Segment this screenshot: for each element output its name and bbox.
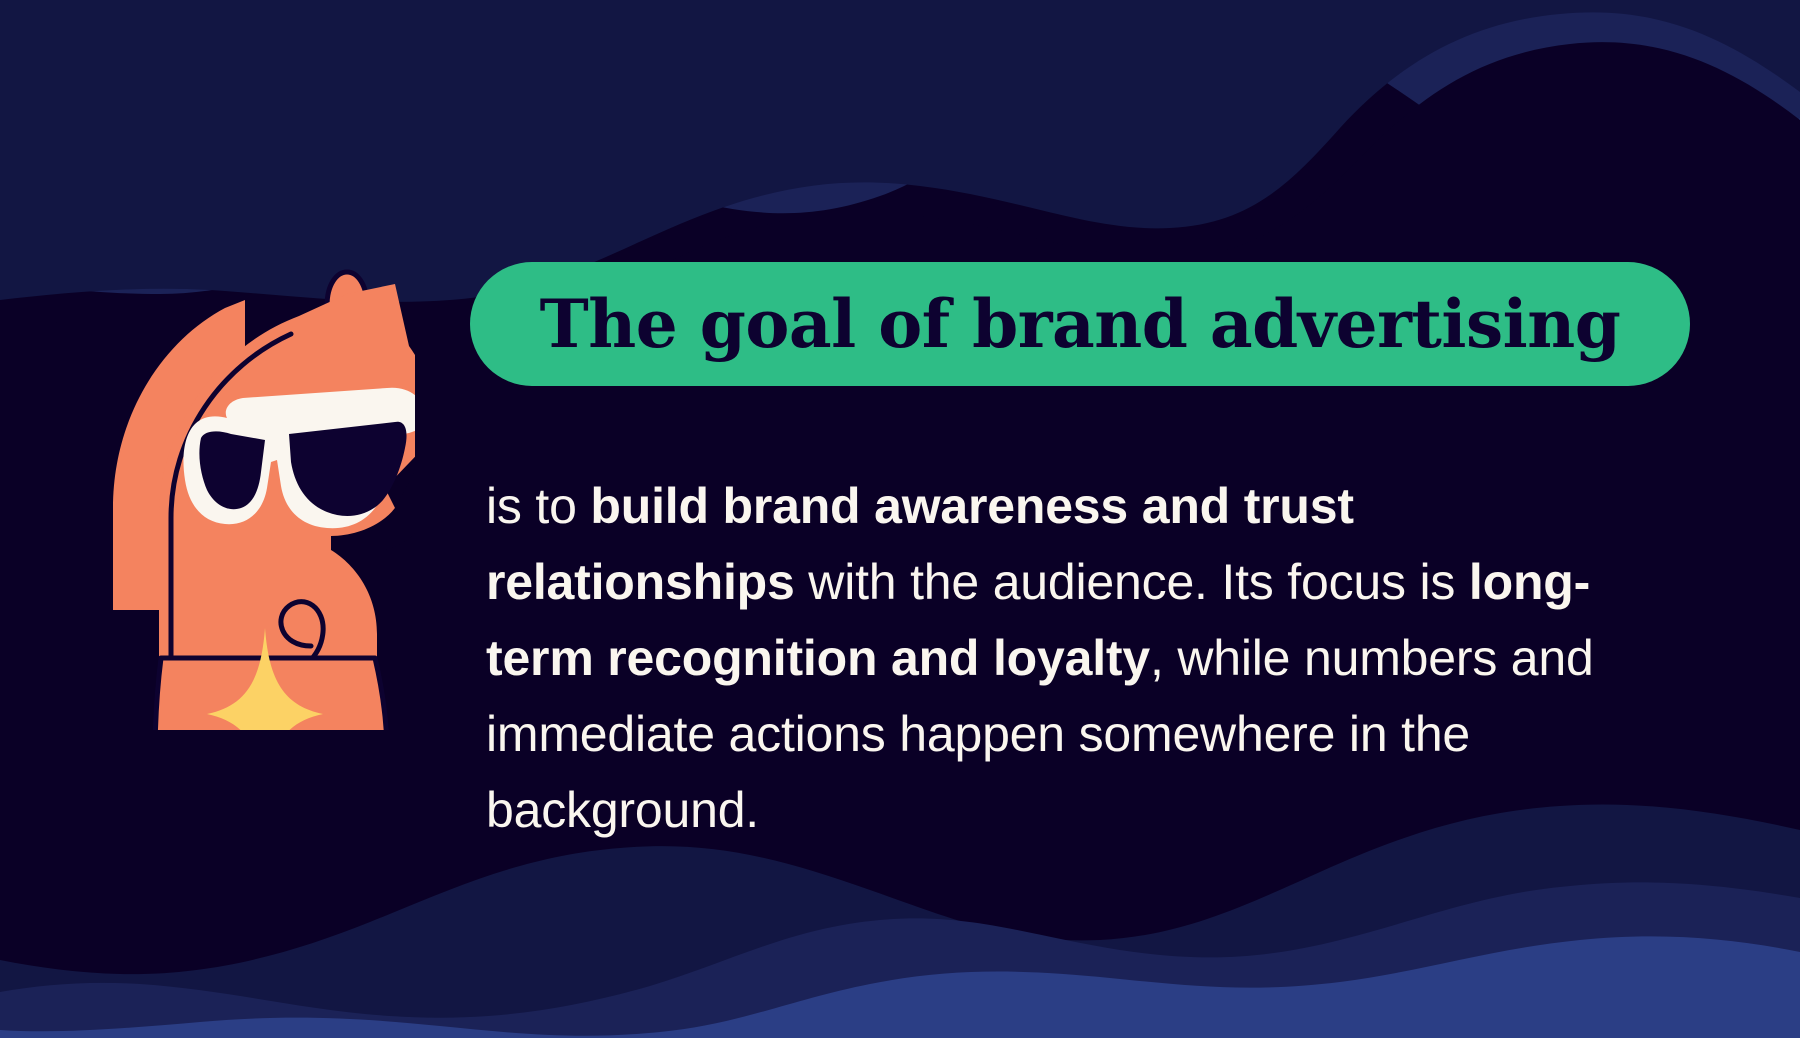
slide-canvas: The goal of brand advertising is to buil… bbox=[0, 0, 1800, 1038]
body-text: with the audience. Its focus is bbox=[795, 554, 1469, 610]
body-text: is to bbox=[486, 478, 590, 534]
chess-knight-illustration bbox=[95, 250, 415, 730]
heading-title: The goal of brand advertising bbox=[540, 291, 1621, 357]
heading-badge: The goal of brand advertising bbox=[470, 262, 1690, 386]
body-paragraph: is to build brand awareness and trust re… bbox=[486, 468, 1646, 848]
